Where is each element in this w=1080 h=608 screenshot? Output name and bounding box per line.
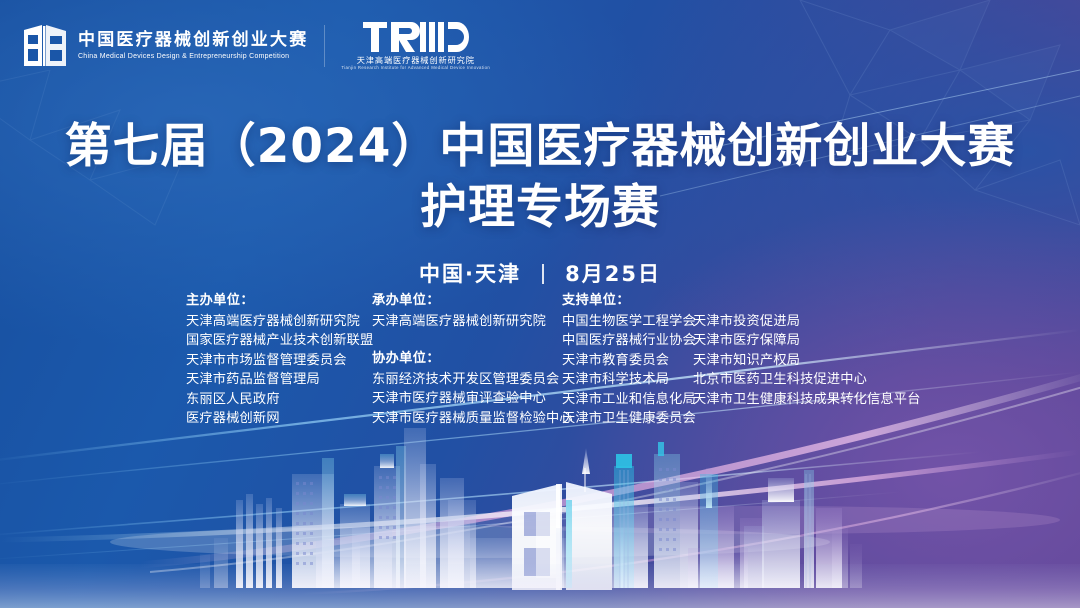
org-column-supporter-1: 支持单位： 中国生物医学工程学会 中国医疗器械行业协会 天津市教育委员会 天津市… (562, 291, 693, 429)
org-item: 中国生物医学工程学会 (562, 312, 693, 332)
organization-lists: 主办单位： 天津高端医疗器械创新研究院 国家医疗器械产业技术创新联盟 天津市市场… (186, 291, 916, 429)
poster-title: 第七届（2024）中国医疗器械创新创业大赛 护理专场赛 (0, 118, 1080, 237)
org-item: 天津市教育委员会 (562, 351, 693, 371)
org-item: 天津市卫生健康委员会 (562, 409, 693, 429)
org-group-supporter-continued: 天津市投资促进局 天津市医疗保障局 天津市知识产权局 北京市医药卫生科技促进中心… (693, 291, 921, 409)
org-heading-co-organizer: 协办单位： (372, 349, 562, 369)
org-item: 天津市知识产权局 (693, 351, 921, 371)
org-column-organizer: 承办单位： 天津高端医疗器械创新研究院 协办单位： 东丽经济技术开发区管理委员会… (372, 291, 562, 428)
org-item: 北京市医药卫生科技促进中心 (693, 370, 921, 390)
meta-separator (542, 264, 544, 284)
org-item: 天津市投资促进局 (693, 312, 921, 332)
competition-logo[interactable]: 中国医疗器械创新创业大赛 China Medical Devices Desig… (22, 24, 308, 68)
city-skyline (0, 408, 1080, 608)
org-item: 天津市医疗保障局 (693, 331, 921, 351)
org-group-co-organizer: 协办单位： 东丽经济技术开发区管理委员会 天津市医疗器械审评查验中心 天津市医疗… (372, 349, 562, 428)
event-poster: 中国医疗器械创新创业大赛 China Medical Devices Desig… (0, 0, 1080, 608)
org-column-host: 主办单位： 天津高端医疗器械创新研究院 国家医疗器械产业技术创新联盟 天津市市场… (186, 291, 372, 429)
org-group-organizer: 承办单位： 天津高端医疗器械创新研究院 (372, 291, 562, 331)
org-item: 天津市卫生健康科技成果转化信息平台 (693, 390, 921, 410)
org-item: 中国医疗器械行业协会 (562, 331, 693, 351)
open-book-logo-mark-icon (22, 24, 68, 68)
triid-wordmark-icon (363, 22, 469, 52)
org-item: 东丽经济技术开发区管理委员会 (372, 370, 562, 390)
org-item: 天津高端医疗器械创新研究院 (186, 312, 372, 332)
org-item: 天津市科学技术局 (562, 370, 693, 390)
org-item: 国家医疗器械产业技术创新联盟 (186, 331, 372, 351)
org-heading-host: 主办单位： (186, 291, 372, 311)
institute-logo-en: Tianjin Research Institute for Advanced … (341, 66, 490, 70)
org-item: 东丽区人民政府 (186, 390, 372, 410)
org-item: 天津高端医疗器械创新研究院 (372, 312, 562, 332)
competition-logo-en: China Medical Devices Design & Entrepren… (78, 53, 308, 60)
org-column-supporter-2: 天津市投资促进局 天津市医疗保障局 天津市知识产权局 北京市医药卫生科技促进中心… (693, 291, 921, 409)
competition-logo-cn: 中国医疗器械创新创业大赛 (78, 32, 308, 49)
org-item: 天津市工业和信息化局 (562, 390, 693, 410)
org-group-host: 主办单位： 天津高端医疗器械创新研究院 国家医疗器械产业技术创新联盟 天津市市场… (186, 291, 372, 429)
title-line-1: 第七届（2024）中国医疗器械创新创业大赛 (0, 118, 1080, 175)
institute-logo[interactable]: 天津高端医疗器械创新研究院 Tianjin Research Institute… (341, 22, 490, 71)
org-item: 天津市医疗器械质量监督检验中心 (372, 409, 562, 429)
header-logos: 中国医疗器械创新创业大赛 China Medical Devices Desig… (22, 22, 490, 71)
org-item: 天津市市场监督管理委员会 (186, 351, 372, 371)
logo-divider (324, 25, 325, 67)
org-item: 天津市药品监督管理局 (186, 370, 372, 390)
org-group-supporter: 支持单位： 中国生物医学工程学会 中国医疗器械行业协会 天津市教育委员会 天津市… (562, 291, 693, 429)
institute-logo-cn: 天津高端医疗器械创新研究院 (357, 56, 475, 64)
org-item: 天津市医疗器械审评查验中心 (372, 389, 562, 409)
event-location: 中国·天津 (419, 262, 521, 286)
org-heading-supporter: 支持单位： (562, 291, 693, 311)
org-heading-organizer: 承办单位： (372, 291, 562, 311)
org-item: 医疗器械创新网 (186, 409, 372, 429)
title-line-2: 护理专场赛 (0, 179, 1080, 236)
event-date: 8月25日 (565, 262, 661, 286)
event-meta: 中国·天津 8月25日 (0, 258, 1080, 288)
